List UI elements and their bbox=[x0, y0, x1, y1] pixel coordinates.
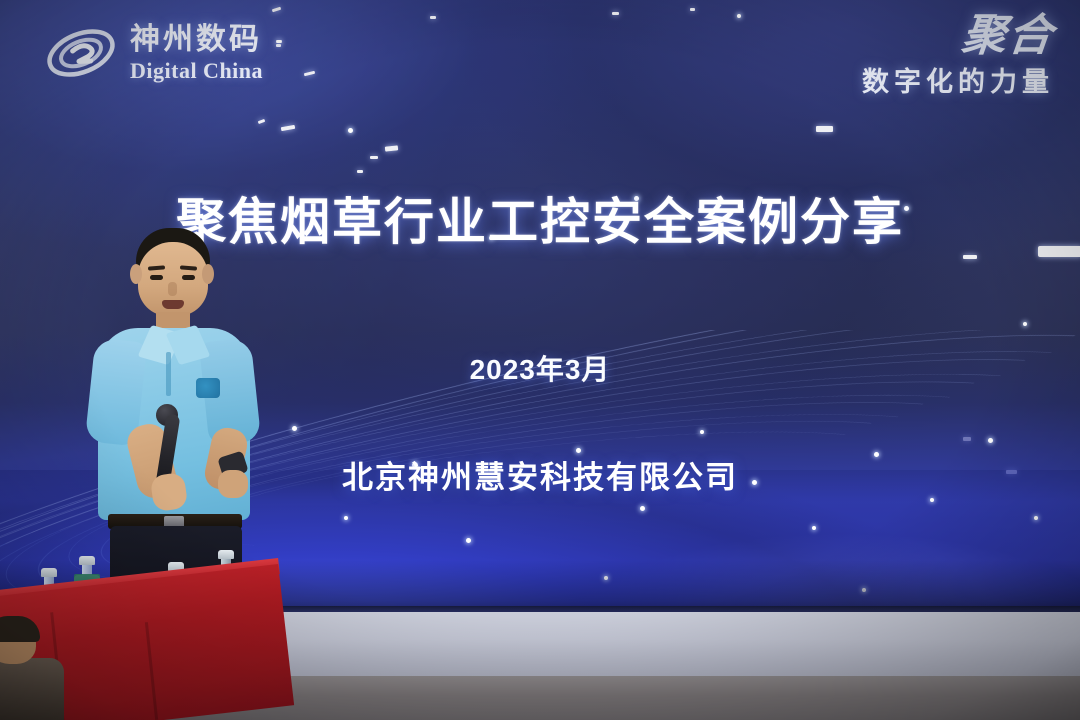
conference-stage-photo: 神州数码 Digital China 聚合 数字化的力量 聚焦烟草行业工控安全案… bbox=[0, 0, 1080, 720]
speaker-eye-left bbox=[150, 275, 163, 280]
bottle-cap bbox=[79, 556, 95, 565]
digital-china-logo-text: 神州数码 Digital China bbox=[130, 25, 263, 82]
light-fleck bbox=[690, 8, 695, 11]
light-fleck bbox=[430, 16, 436, 19]
speaker-chest-logo-icon bbox=[196, 378, 220, 398]
bokeh-dot bbox=[1034, 516, 1038, 520]
speaker-ear-left bbox=[130, 264, 142, 284]
speaker-ear-right bbox=[202, 264, 214, 284]
attendee-body bbox=[0, 658, 64, 720]
light-fleck bbox=[612, 12, 619, 15]
event-slogan: 聚合 数字化的力量 bbox=[862, 14, 1054, 99]
light-fleck bbox=[276, 44, 281, 47]
bokeh-dot bbox=[292, 426, 297, 431]
light-fleck bbox=[816, 126, 833, 132]
speaker-eye-right bbox=[182, 275, 195, 280]
light-fleck bbox=[370, 156, 378, 159]
bokeh-dot bbox=[344, 516, 348, 520]
light-dot bbox=[737, 14, 741, 18]
bokeh-dot bbox=[640, 506, 645, 511]
bokeh-dot bbox=[812, 526, 816, 530]
slogan-sub-text: 数字化的力量 bbox=[862, 60, 1054, 99]
digital-china-logo: 神州数码 Digital China bbox=[44, 22, 263, 84]
bottle-cap bbox=[41, 568, 57, 577]
bokeh-dot bbox=[700, 430, 704, 434]
bokeh-dot bbox=[466, 538, 471, 543]
light-dot bbox=[1023, 322, 1027, 326]
speaker-shirt-placket bbox=[166, 352, 171, 396]
speaker-hand-holding-clicker bbox=[218, 470, 248, 498]
logo-name-cn: 神州数码 bbox=[130, 25, 263, 55]
light-fleck bbox=[277, 40, 281, 43]
bottle-cap bbox=[218, 550, 234, 559]
bokeh-dot bbox=[930, 498, 934, 502]
speaker-mouth bbox=[162, 300, 184, 309]
digital-china-swirl-icon bbox=[44, 22, 118, 84]
light-fleck bbox=[963, 255, 977, 259]
logo-name-en: Digital China bbox=[130, 60, 263, 82]
light-fleck bbox=[357, 170, 363, 173]
bokeh-dot bbox=[988, 438, 993, 443]
seated-attendee bbox=[0, 622, 70, 720]
slogan-brush-text: 聚合 bbox=[860, 14, 1057, 58]
speaker-nose bbox=[168, 282, 177, 296]
light-dot bbox=[348, 128, 353, 133]
